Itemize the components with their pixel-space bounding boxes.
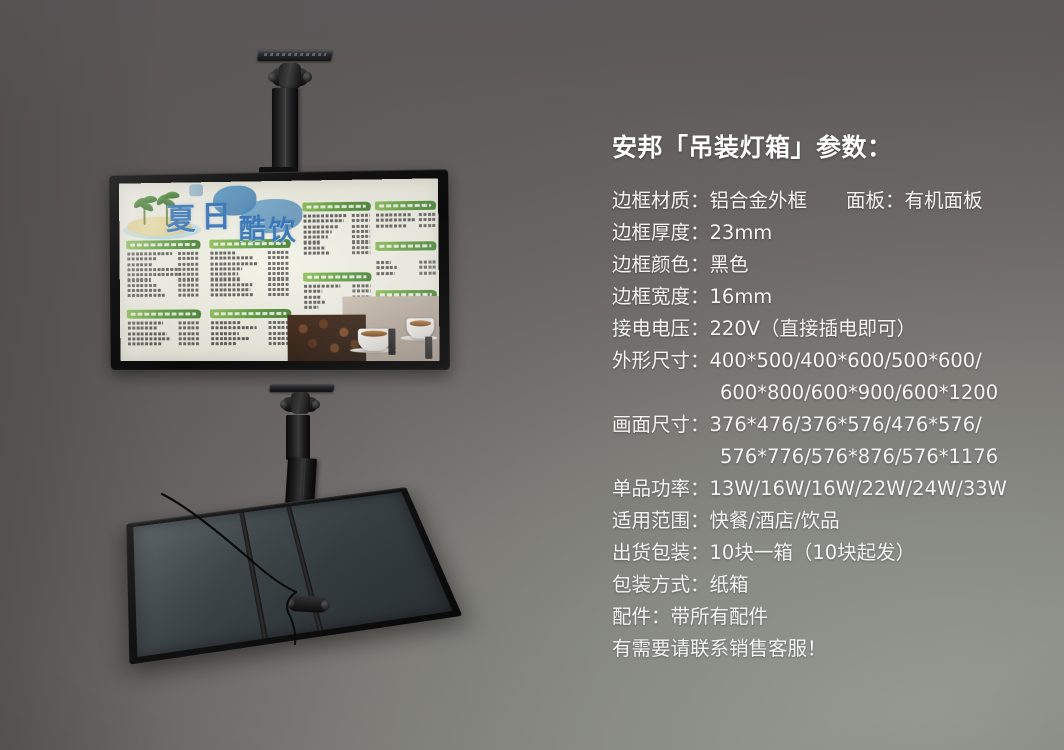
menu-screen: 夏 日 酷 饮 xyxy=(119,178,440,361)
menu-section-header xyxy=(375,241,436,251)
menu-section-header xyxy=(375,201,436,211)
menu-column xyxy=(126,240,201,299)
menu-section-header xyxy=(210,309,291,318)
spec-line: 配件：带所有配件 xyxy=(612,601,1042,633)
spec-line: 边框材质：铝合金外框 面板：有机面板 xyxy=(612,185,1042,217)
menu-section-header xyxy=(126,240,200,250)
menu-column xyxy=(375,241,436,276)
spec-line: 适用范围：快餐/酒店/饮品 xyxy=(612,505,1042,537)
coffee-photo xyxy=(287,296,439,361)
spec-line: 边框厚度：23mm xyxy=(612,217,1042,249)
spec-line: 600*800/600*900/600*1200 xyxy=(612,377,1042,409)
menu-title: 夏 日 酷 饮 xyxy=(166,190,315,240)
spec-line: 接电电压：220V（直接插电即可） xyxy=(612,313,1042,345)
menu-column xyxy=(210,309,292,347)
drop-pole-lower-upper xyxy=(286,415,310,460)
pivot-joint-lower-bottom-icon xyxy=(285,589,330,619)
menu-section-header xyxy=(127,309,201,318)
spec-line: 画面尺寸：376*476/376*576/476*576/ xyxy=(612,409,1042,441)
spec-line: 有需要请联系销售客服！ xyxy=(612,633,1042,665)
spec-line: 外形尺寸：400*500/400*600/500*600/ xyxy=(612,345,1042,377)
spec-line: 包装方式：纸箱 xyxy=(612,569,1042,601)
ceiling-mount-plate-icon xyxy=(257,50,333,61)
top-product-assembly: 夏 日 酷 饮 xyxy=(0,0,520,400)
menu-column xyxy=(127,309,202,346)
pivot-joint-lower-top-icon xyxy=(280,391,320,417)
spec-line: 576*776/576*876/576*1176 xyxy=(612,441,1042,473)
spec-line: 出货包装：10块一箱（10块起发） xyxy=(612,537,1042,569)
menu-column xyxy=(375,201,436,229)
lightbox-front-unit: 夏 日 酷 饮 xyxy=(107,172,447,370)
spec-heading: 安邦「吊装灯箱」参数： xyxy=(612,128,1042,164)
spec-line: 单品功率：13W/16W/16W/22W/24W/33W xyxy=(612,473,1042,505)
spec-line: 边框颜色：黑色 xyxy=(612,249,1042,281)
product-photo-stage: 夏 日 酷 饮 xyxy=(0,0,1064,750)
menu-section-header xyxy=(303,272,372,282)
bottom-product-assembly xyxy=(120,372,480,702)
lightbox-rear-unit xyxy=(126,487,462,665)
spec-panel: 安邦「吊装灯箱」参数： 边框材质：铝合金外框 面板：有机面板边框厚度：23mm边… xyxy=(612,128,1042,665)
spec-line: 边框宽度：16mm xyxy=(612,281,1042,313)
spec-line-list: 边框材质：铝合金外框 面板：有机面板边框厚度：23mm边框颜色：黑色边框宽度：1… xyxy=(612,185,1042,665)
